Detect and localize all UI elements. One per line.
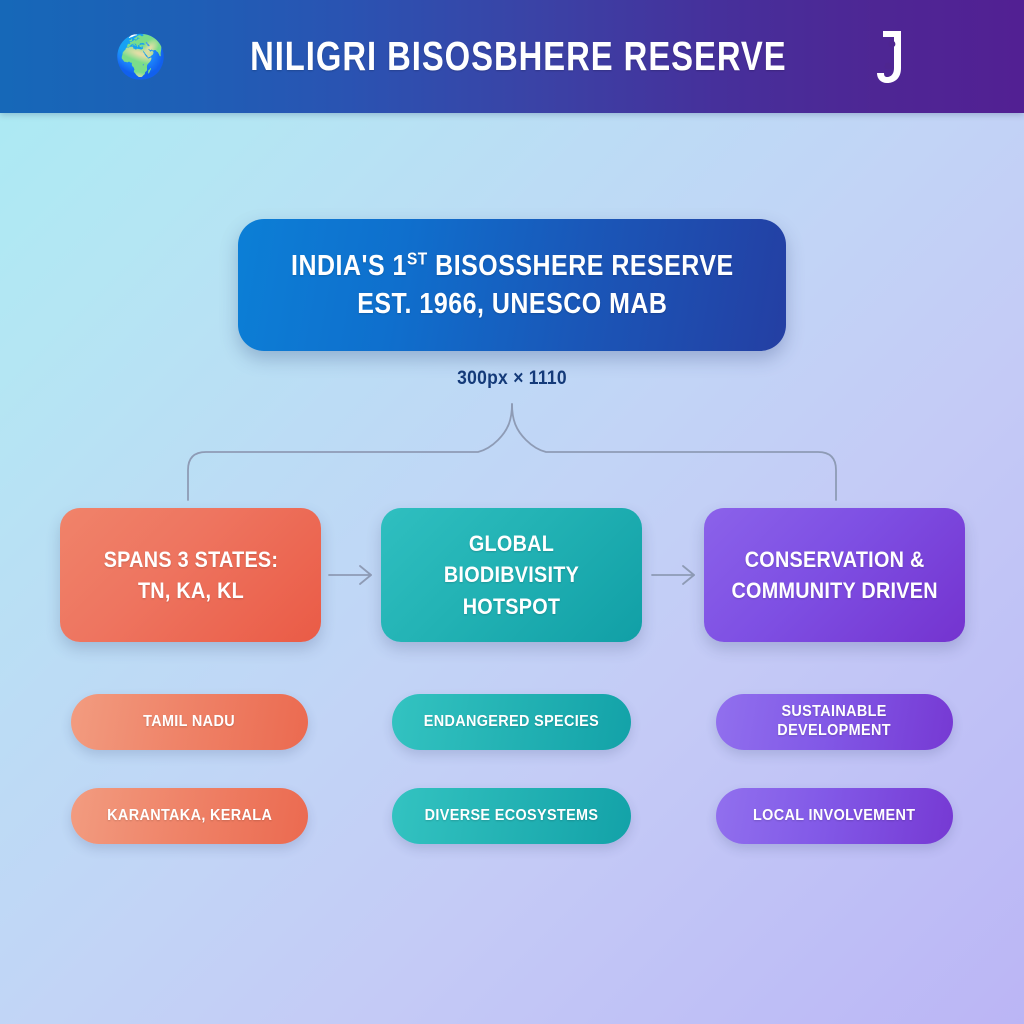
globe-icon: 🌍 [115,34,161,80]
infographic-canvas: 🌍 NILIGRI BISOSBHERE RESERVE [0,0,1024,1024]
top-card-line-1-tail: BISOSSHERE RESERVE [427,250,733,282]
stage-box-states-label: SPANS 3 STATES: TN, KA, KL [103,544,278,606]
sub-pill-endangered-species[interactable]: ENDANGERED SPECIES [392,694,631,750]
sub-pill-diverse-ecosystems[interactable]: DIVERSE ECOSYSTEMS [392,788,631,844]
sub-pill-sustainable-development-label: SUSTAINABLE DEVELOPMENT [778,703,892,741]
stage-box-biodiversity-label: GLOBAL BIODIBVISITY HOTSPOT [405,528,618,622]
sub-pill-karantaka-kerala-label: KARANTAKA, KERALA [107,806,272,826]
top-card-line-2: EST. 1966, UNESCO MAB [357,285,667,323]
stage-box-conservation[interactable]: CONSERVATION & COMMUNITY DRIVEN [704,508,965,642]
sub-pill-diverse-ecosystems-label: DIVERSE ECOSYSTEMS [425,806,599,826]
sub-pill-karantaka-kerala[interactable]: KARANTAKA, KERALA [71,788,308,844]
header-content: 🌍 NILIGRI BISOSBHERE RESERVE [0,0,1024,113]
top-summary-card[interactable]: INDIA'S 1ST BISOSSHERE RESERVE EST. 1966… [238,219,786,351]
sub-pill-endangered-species-label: ENDANGERED SPECIES [424,712,599,732]
sub-pill-local-involvement-label: LOCAL INVOLVEMENT [753,806,915,826]
leaf-glyph-icon [875,28,909,86]
top-card-line-1-main: INDIA'S 1 [291,250,407,282]
sub-pill-tamil-nadu-label: TAMIL NADU [144,712,236,732]
header-bar: 🌍 NILIGRI BISOSBHERE RESERVE [0,0,1024,113]
page-title: NILIGRI BISOSBHERE RESERVE [250,33,787,80]
stage-box-biodiversity[interactable]: GLOBAL BIODIBVISITY HOTSPOT [381,508,642,642]
stage-box-conservation-label: CONSERVATION & COMMUNITY DRIVEN [731,544,937,606]
sub-pill-sustainable-development[interactable]: SUSTAINABLE DEVELOPMENT [716,694,953,750]
top-card-ordinal-suffix: ST [407,248,428,268]
sub-pill-tamil-nadu[interactable]: TAMIL NADU [71,694,308,750]
sub-pill-local-involvement[interactable]: LOCAL INVOLVEMENT [716,788,953,844]
top-card-line-1: INDIA'S 1ST BISOSSHERE RESERVE [291,247,734,285]
size-caption: 300px × 1110 [41,368,983,390]
stage-box-states[interactable]: SPANS 3 STATES: TN, KA, KL [60,508,321,642]
